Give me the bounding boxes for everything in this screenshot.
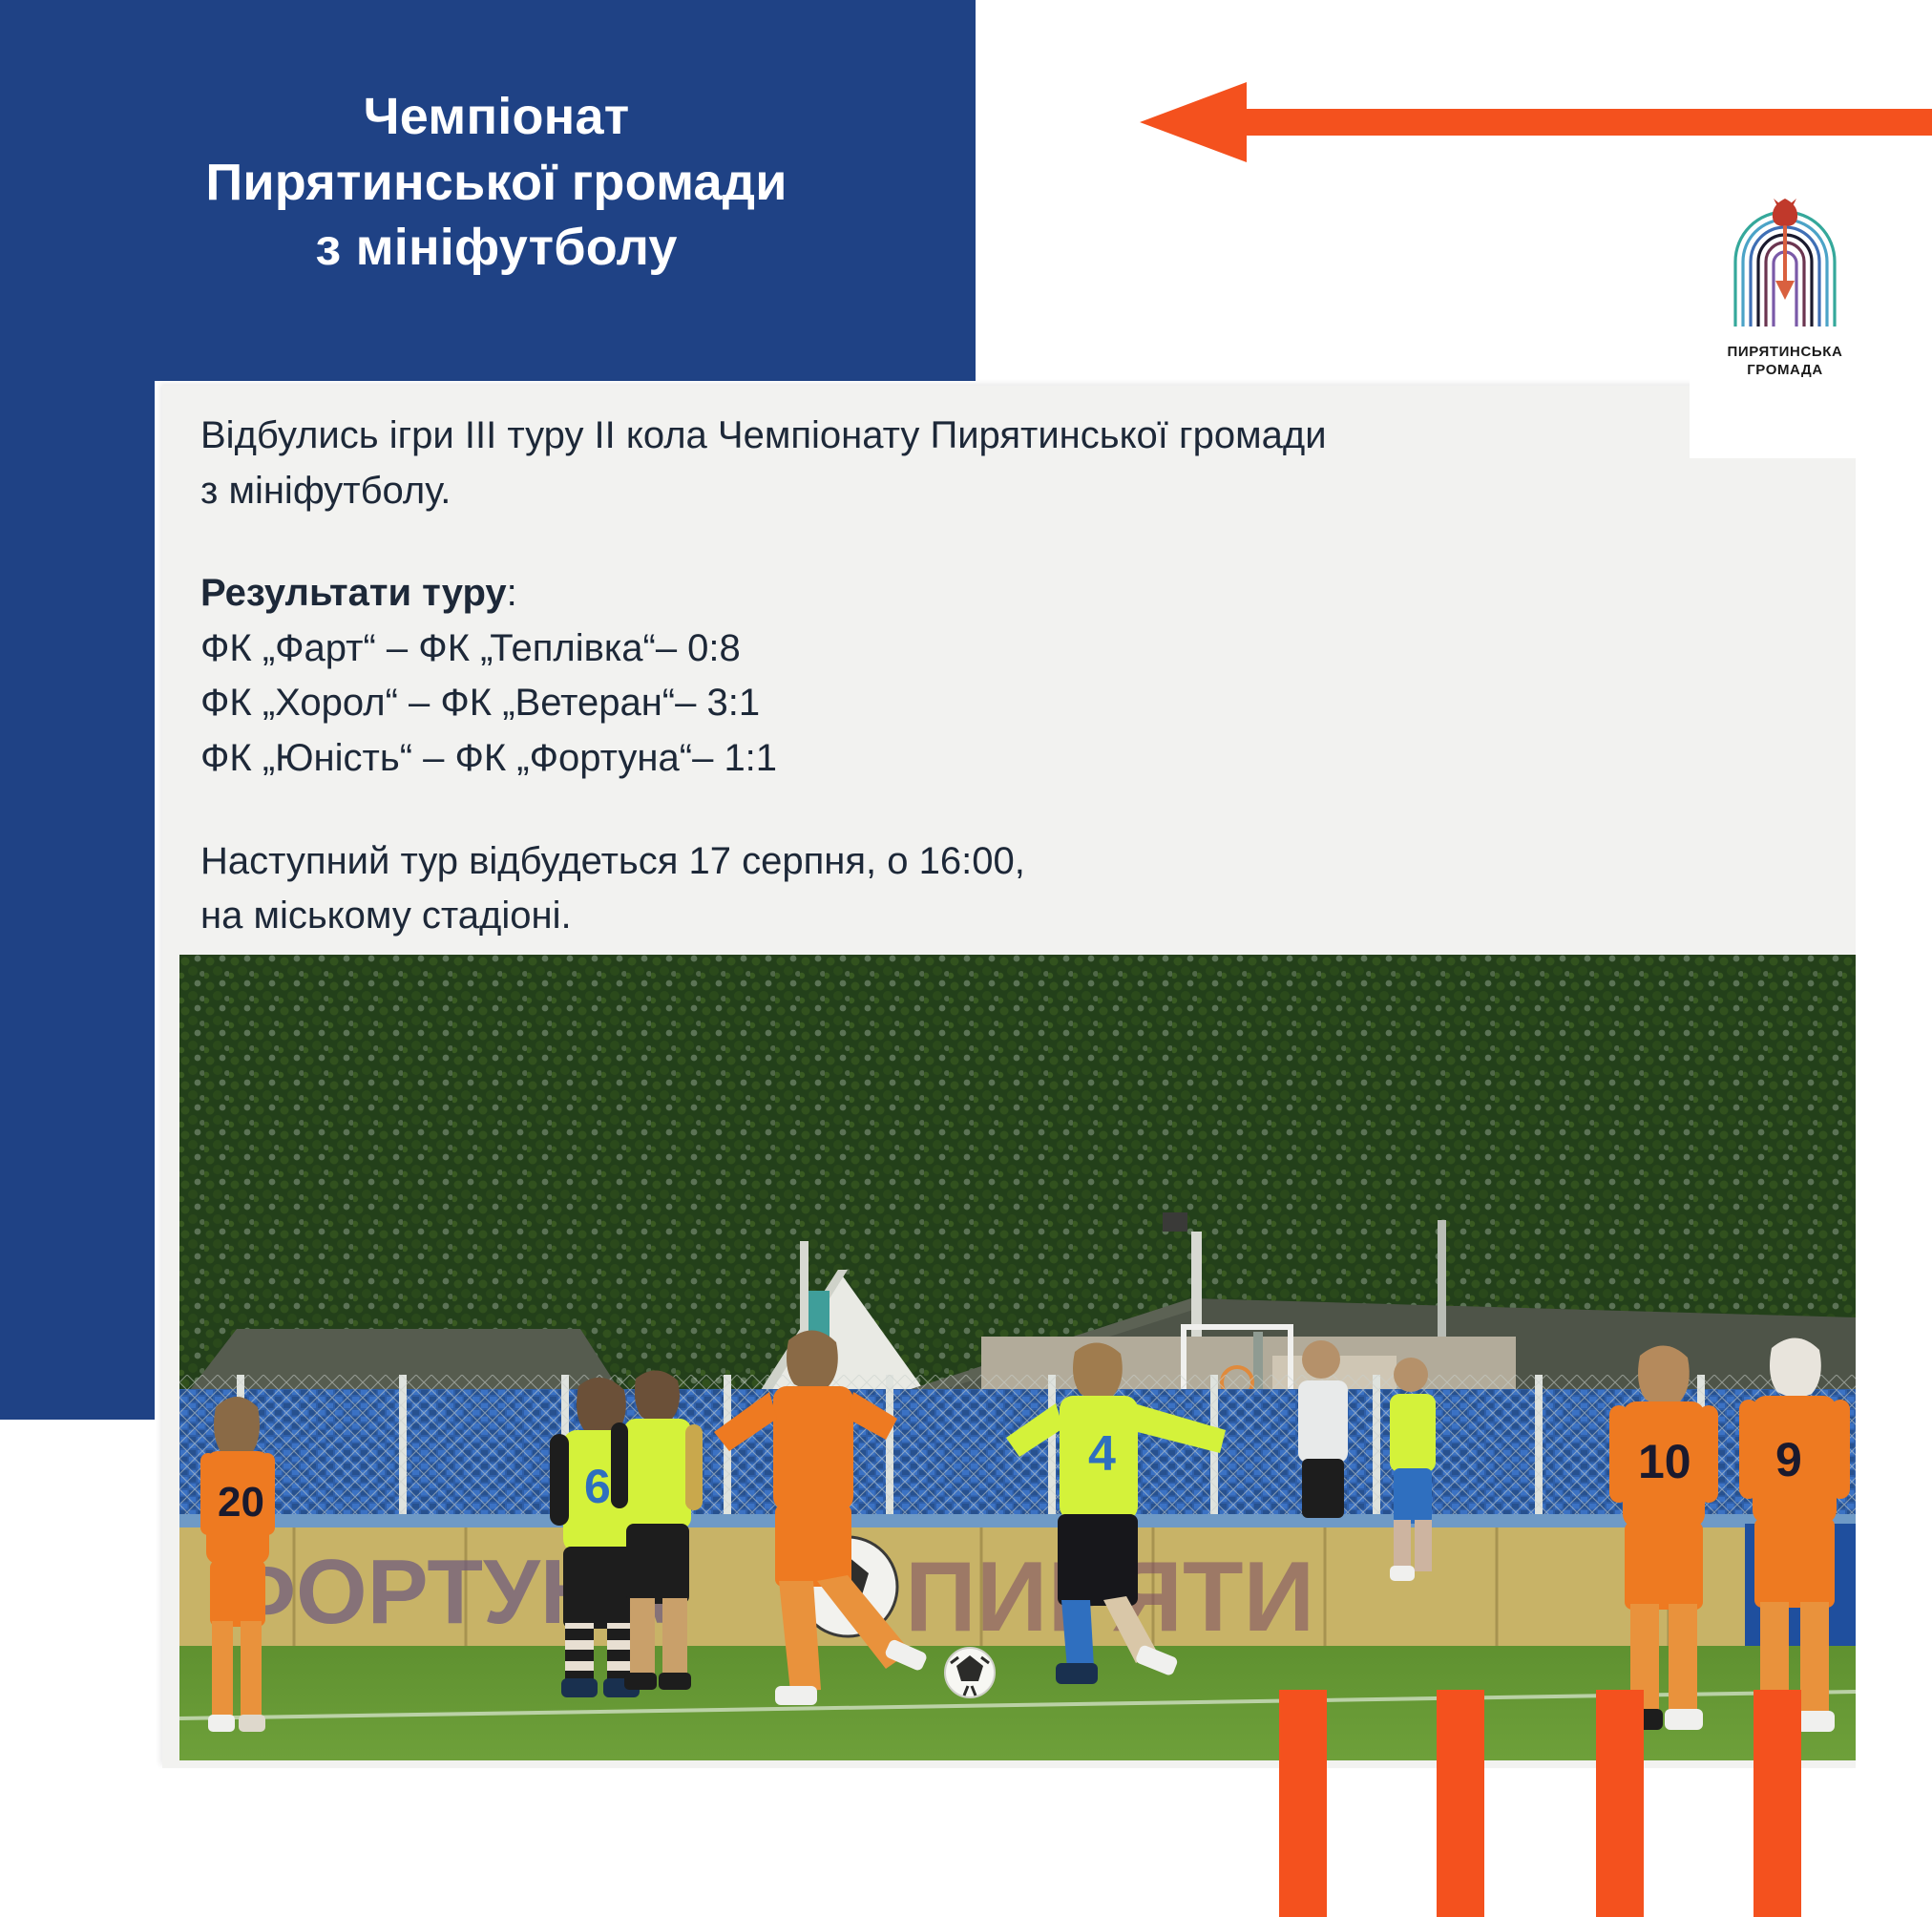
title-line-2: Пирятинської громади	[134, 150, 859, 216]
text-spacer-2	[200, 787, 1690, 834]
results-heading-colon: :	[507, 572, 517, 614]
match-photo: ФОРТУНА ПИРЯТИ 20	[179, 955, 1856, 1760]
arrow-left-icon	[1140, 69, 1932, 176]
results-heading-row: Результати туру:	[200, 566, 1690, 621]
svg-text:10: 10	[1638, 1435, 1691, 1488]
orange-bar	[1596, 1690, 1644, 1917]
text-spacer-1	[200, 518, 1690, 566]
intro-line-1: Відбулись ігри III туру II кола Чемпіона…	[200, 409, 1690, 464]
community-logo-card: ПИРЯТИНСЬКА ГРОМАДА	[1690, 172, 1880, 458]
title-line-1: Чемпіонат	[134, 84, 859, 150]
poster-root: Чемпіонат Пирятинської громади з мініфут…	[0, 0, 1932, 1917]
announcement-text: Відбулись ігри III туру II кола Чемпіона…	[200, 409, 1690, 944]
next-round-line-2: на міському стадіоні.	[200, 889, 1690, 944]
orange-bars-decoration	[1241, 1690, 1932, 1917]
svg-text:6: 6	[584, 1460, 611, 1513]
logo-wordmark: ПИРЯТИНСЬКА ГРОМАДА	[1728, 344, 1843, 380]
next-round-line-1: Наступний тур відбудеться 17 серпня, о 1…	[200, 834, 1690, 890]
orange-bar	[1279, 1690, 1327, 1917]
logo-word-line-1: ПИРЯТИНСЬКА	[1728, 344, 1843, 362]
svg-text:9: 9	[1775, 1433, 1802, 1486]
pyriatyn-arch-logo-icon	[1718, 193, 1852, 336]
logo-word-line-2: ГРОМАДА	[1728, 362, 1843, 380]
result-row: ФК „Фарт“ – ФК „Теплівка“– 0:8	[200, 621, 1690, 677]
svg-text:4: 4	[1088, 1426, 1116, 1482]
svg-text:20: 20	[218, 1479, 264, 1526]
result-row: ФК „Юність“ – ФК „Фортуна“– 1:1	[200, 731, 1690, 787]
intro-line-2: з мініфутболу.	[200, 464, 1690, 519]
football-ball	[945, 1648, 995, 1697]
orange-bar	[1753, 1690, 1801, 1917]
page-title: Чемпіонат Пирятинської громади з мініфут…	[134, 84, 859, 281]
title-line-3: з мініфутболу	[134, 215, 859, 281]
orange-bar	[1437, 1690, 1484, 1917]
result-row: ФК „Хорол“ – ФК „Ветеран“– 3:1	[200, 676, 1690, 731]
results-heading: Результати туру	[200, 572, 507, 614]
